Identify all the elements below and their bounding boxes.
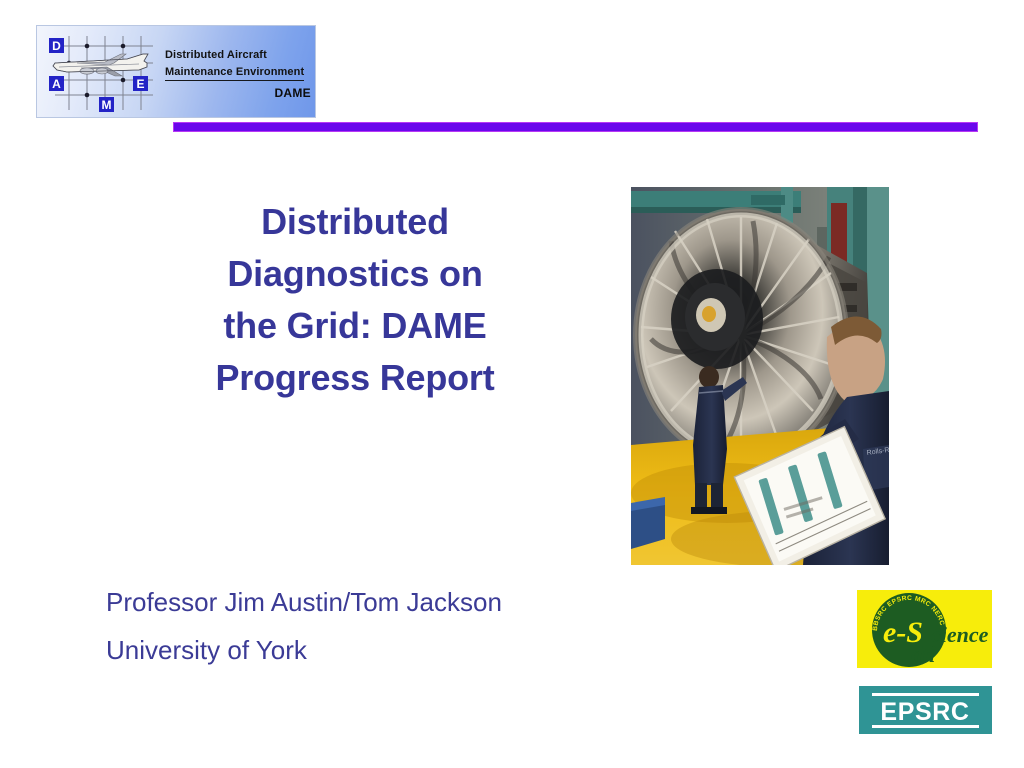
dame-project-banner: D A M E Distributed Aircraft Maintenance…: [36, 25, 316, 118]
svg-text:EPSRC: EPSRC: [880, 698, 969, 726]
dame-grid-airplane-icon: D A M E: [47, 32, 159, 114]
page-title-line-2: Diagnostics on: [120, 248, 590, 300]
epsrc-logo: EPSRC: [859, 686, 992, 734]
svg-text:E: E: [136, 77, 144, 91]
page-title-line-3: the Grid: DAME: [120, 300, 590, 352]
dame-logo-line2: Maintenance Environment: [165, 65, 304, 81]
presenter-byline: Professor Jim Austin/Tom Jackson Univers…: [106, 578, 666, 674]
dame-logo-acronym: DAME: [165, 86, 311, 100]
svg-text:D: D: [52, 39, 61, 53]
svg-text:cience: cience: [931, 622, 989, 647]
page-title-line-4: Progress Report: [120, 352, 590, 404]
svg-text:dti: dti: [911, 642, 936, 667]
page-title: Distributed Diagnostics on the Grid: DAM…: [120, 196, 590, 404]
presenter-names: Professor Jim Austin/Tom Jackson: [106, 578, 666, 626]
header-divider-rule: [173, 122, 978, 132]
jet-engine-inspection-photo: Rolls-Royce: [631, 187, 889, 565]
presenter-affiliation: University of York: [106, 626, 666, 674]
dame-logo-line1: Distributed Aircraft: [165, 48, 311, 62]
page-title-line-1: Distributed: [120, 196, 590, 248]
dame-logo-text: Distributed Aircraft Maintenance Environ…: [165, 48, 311, 100]
svg-text:M: M: [102, 98, 112, 112]
svg-text:A: A: [52, 77, 61, 91]
e-science-dti-logo: BBSRC EPSRC MRC NERC PPARC CCLRC e-S cie…: [857, 590, 992, 668]
